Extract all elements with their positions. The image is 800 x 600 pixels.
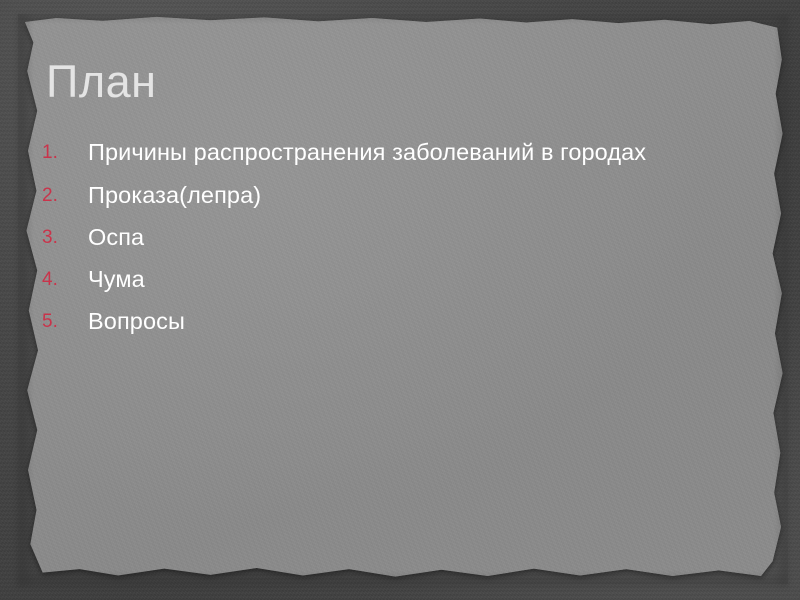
page-title: План — [46, 56, 156, 108]
list-item-label: Чума — [88, 263, 748, 296]
slide-content: План 1. Причины распространения заболева… — [0, 0, 800, 600]
list-item-number: 5. — [40, 305, 88, 338]
list-item-number: 2. — [40, 179, 88, 212]
presentation-slide: План 1. Причины распространения заболева… — [0, 0, 800, 600]
list-item: 3. Оспа — [40, 221, 752, 254]
list-item: 1. Причины распространения заболеваний в… — [40, 136, 752, 169]
list-item-label: Оспа — [88, 221, 748, 254]
list-item-label: Проказа(лепра) — [88, 179, 748, 212]
list-item: 2. Проказа(лепра) — [40, 179, 752, 212]
list-item: 4. Чума — [40, 263, 752, 296]
list-item-number: 3. — [40, 221, 88, 254]
plan-numbered-list: 1. Причины распространения заболеваний в… — [40, 136, 752, 347]
list-item: 5. Вопросы — [40, 305, 752, 338]
list-item-number: 4. — [40, 263, 88, 296]
list-item-label: Вопросы — [88, 305, 748, 338]
list-item-number: 1. — [40, 136, 88, 169]
list-item-label: Причины распространения заболеваний в го… — [88, 136, 748, 169]
